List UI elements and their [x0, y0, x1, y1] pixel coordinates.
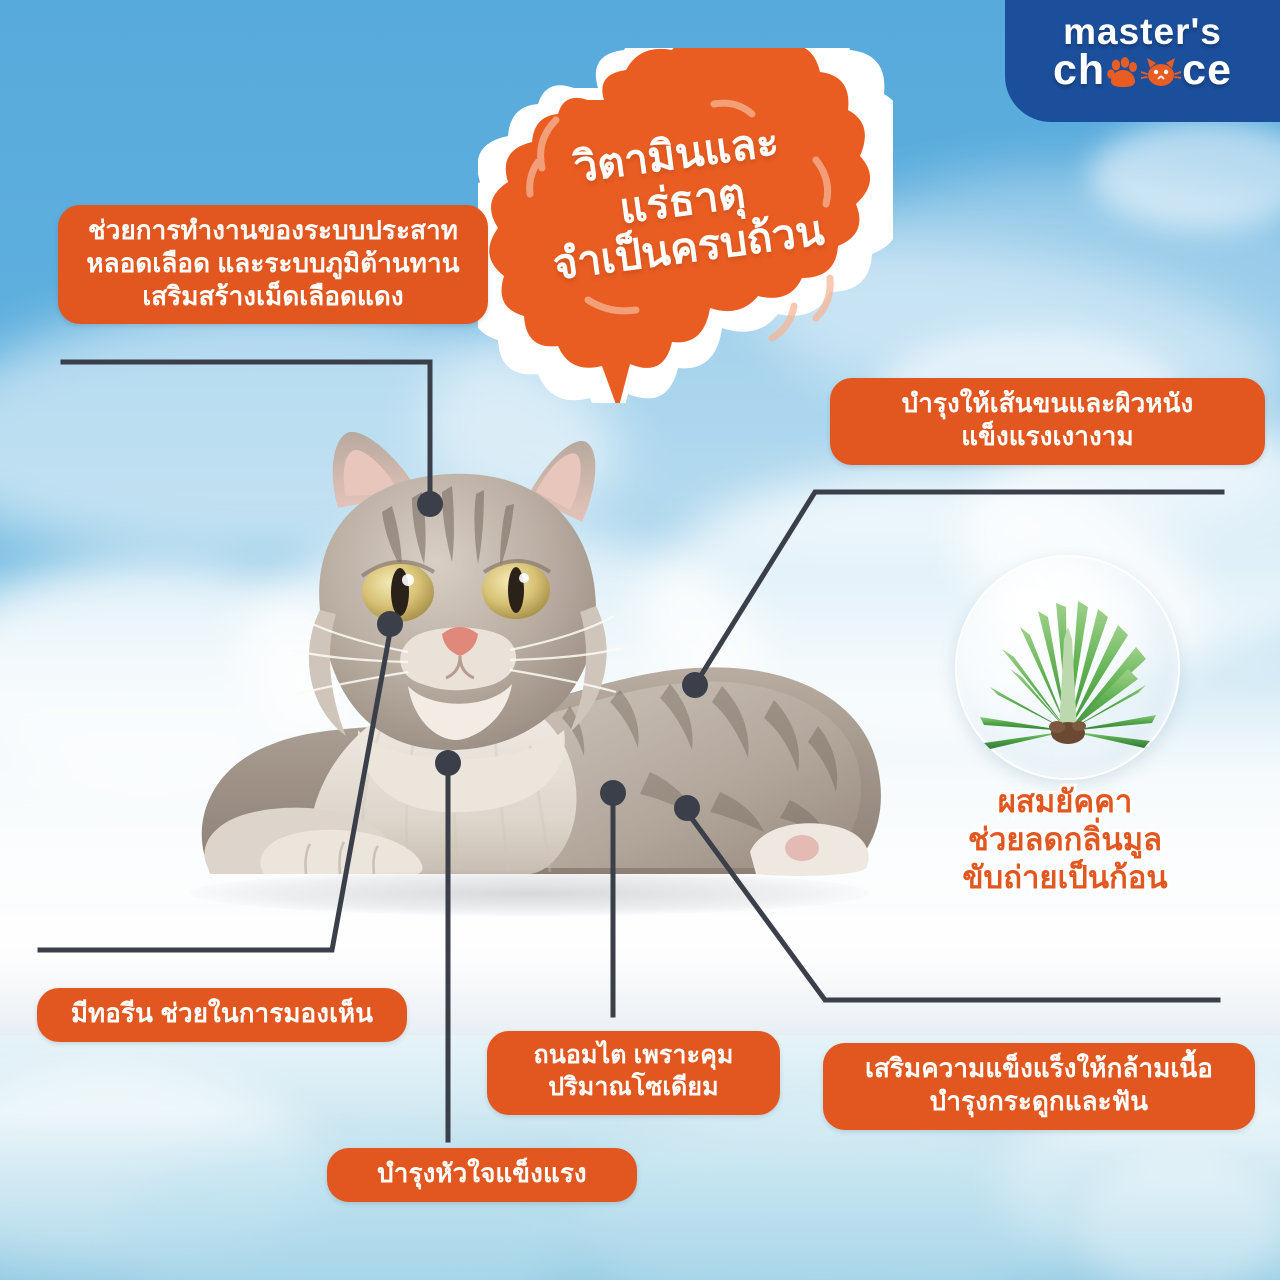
- yucca-line-3: ขับถ่ายเป็นก้อน: [900, 859, 1230, 897]
- label-coat-skin[interactable]: บำรุงให้เส้นขนและผิวหนัง แข็งแรงเงางาม: [830, 378, 1265, 465]
- label-kidney-sodium[interactable]: ถนอมไต เพราะคุม ปริมาณโซเดียม: [487, 1031, 780, 1115]
- label-line: ช่วยการทำงานของระบบประสาท: [78, 214, 468, 247]
- connector-dots: [377, 491, 708, 821]
- label-line: บำรุงหัวใจแข็งแรง: [347, 1157, 617, 1190]
- logo-choice-prefix: ch: [1053, 50, 1105, 91]
- cat-face-icon: [1141, 50, 1181, 91]
- label-line: ถนอมไต เพราะคุม: [507, 1040, 760, 1072]
- label-line: แข็งแรงเงางาม: [850, 420, 1245, 453]
- label-taurine-vision[interactable]: มีทอรีน ช่วยในการมองเห็น: [37, 988, 407, 1042]
- masters-choice-logo[interactable]: master's ch: [1005, 0, 1280, 122]
- label-line: หลอดเลือด และระบบภูมิต้านทาน: [78, 247, 468, 280]
- yucca-line-2: ช่วยลดกลิ่นมูล: [900, 821, 1230, 859]
- vitamins-speech-bubble: วิตามินและ แร่ธาตุ จำเป็นครบถ้วน: [478, 48, 893, 403]
- label-line: เสริมสร้างเม็ดเลือดแดง: [78, 280, 468, 313]
- label-line: บำรุงกระดูกและฟัน: [843, 1085, 1235, 1118]
- label-line: มีทอรีน ช่วยในการมองเห็น: [57, 997, 387, 1030]
- logo-line-1: master's: [1005, 14, 1280, 50]
- yucca-feature-text: ผสมยัคคา ช่วยลดกลิ่นมูล ขับถ่ายเป็นก้อน: [900, 783, 1230, 897]
- infographic-canvas: วิตามินและ แร่ธาตุ จำเป็นครบถ้วน ช่วยการ…: [0, 0, 1280, 1280]
- label-line: เสริมความแข็งแร็งให้กล้ามเนื้อ: [843, 1052, 1235, 1085]
- label-strong-heart[interactable]: บำรุงหัวใจแข็งแรง: [327, 1148, 637, 1202]
- label-line: ปริมาณโซเดียม: [507, 1072, 760, 1104]
- label-muscle-bone-teeth[interactable]: เสริมความแข็งแร็งให้กล้ามเนื้อ บำรุงกระด…: [823, 1043, 1255, 1130]
- label-nerve-blood-immune[interactable]: ช่วยการทำงานของระบบประสาท หลอดเลือด และร…: [58, 205, 488, 324]
- bubble-text: วิตามินและ แร่ธาตุ จำเป็นครบถ้วน: [457, 22, 915, 428]
- logo-choice-suffix: ce: [1182, 50, 1232, 91]
- yucca-plant-icon: [955, 555, 1180, 780]
- yucca-orb: [955, 555, 1180, 780]
- label-line: บำรุงให้เส้นขนและผิวหนัง: [850, 387, 1245, 420]
- logo-line-2: ch: [1005, 50, 1280, 91]
- yucca-line-1: ผสมยัคคา: [900, 783, 1230, 821]
- paw-icon: [1106, 50, 1140, 91]
